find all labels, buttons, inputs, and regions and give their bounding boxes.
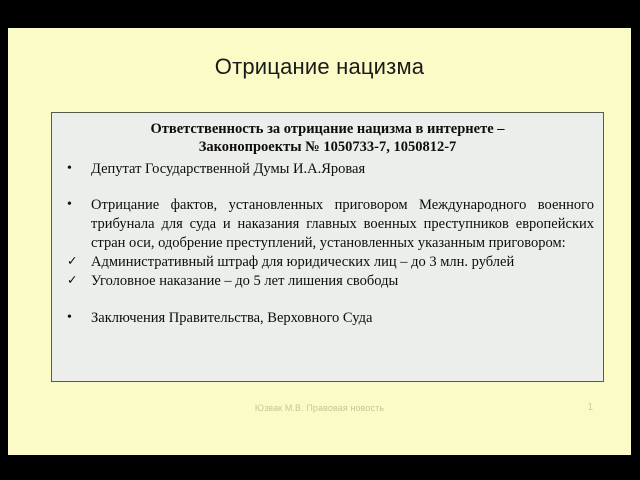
list-item-text: Депутат Государственной Думы И.А.Яровая: [91, 160, 594, 179]
content-box: Ответственность за отрицание нацизма в и…: [51, 112, 604, 382]
list-item: • Заключения Правительства, Верховного С…: [61, 309, 594, 328]
list-item: ✓ Уголовное наказание – до 5 лет лишения…: [61, 272, 594, 291]
list-item-text: Заключения Правительства, Верховного Суд…: [91, 309, 594, 328]
list-item: ✓ Административный штраф для юридических…: [61, 253, 594, 272]
bullet-dot-icon: •: [67, 160, 85, 178]
list-item-text: Уголовное наказание – до 5 лет лишения с…: [91, 272, 594, 291]
list-item-text: Административный штраф для юридических л…: [91, 253, 594, 272]
footer-attribution: Юзвак М.В. Правовая новость: [8, 403, 631, 413]
bullet-dot-icon: •: [67, 309, 85, 327]
content-box-heading: Ответственность за отрицание нацизма в и…: [61, 120, 594, 157]
list-item-text: Отрицание фактов, установленных приговор…: [91, 196, 594, 253]
content-box-heading-line-1: Ответственность за отрицание нацизма в и…: [61, 120, 594, 138]
page-title: Отрицание нацизма: [8, 54, 631, 80]
bullet-list: • Депутат Государственной Думы И.А.Ярова…: [61, 160, 594, 328]
check-mark-icon: ✓: [67, 272, 85, 289]
slide-canvas: Отрицание нацизма Ответственность за отр…: [8, 28, 631, 455]
list-item: • Депутат Государственной Думы И.А.Ярова…: [61, 160, 594, 179]
page-number: 1: [587, 402, 593, 413]
list-item: • Отрицание фактов, установленных пригов…: [61, 196, 594, 253]
slide-letterbox-frame: Отрицание нацизма Ответственность за отр…: [0, 0, 640, 480]
bullet-dot-icon: •: [67, 196, 85, 214]
content-box-heading-line-2: Законопроекты № 1050733-7, 1050812-7: [61, 138, 594, 156]
check-mark-icon: ✓: [67, 253, 85, 270]
